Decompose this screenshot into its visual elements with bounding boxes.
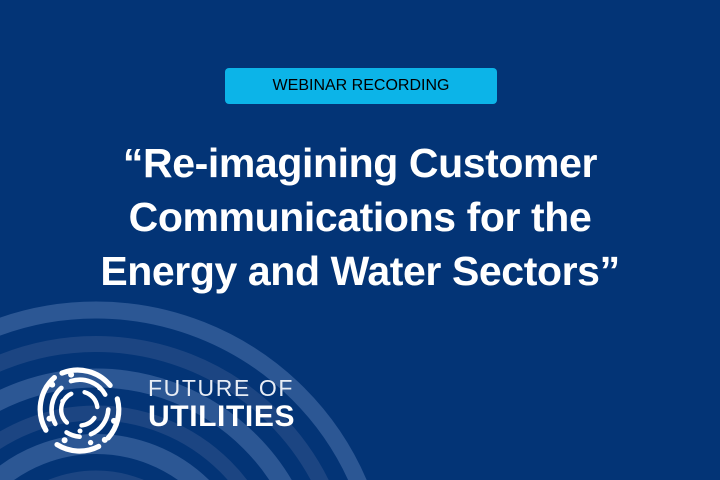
- future-of-utilities-logo: FUTURE OF UTILITIES: [24, 352, 324, 464]
- badge-label: WEBINAR RECORDING: [273, 77, 450, 95]
- logo-wordmark-bottom: UTILITIES: [148, 401, 318, 432]
- headline-line-2: Communications for the: [0, 190, 720, 244]
- page-title: “Re-imagining Customer Communications fo…: [0, 136, 720, 298]
- concentric-dashed-rings-icon: [24, 352, 136, 464]
- webinar-promo-card: WEBINAR RECORDING “Re-imagining Customer…: [0, 0, 720, 480]
- headline-line-3: Energy and Water Sectors”: [0, 244, 720, 298]
- webinar-recording-badge: WEBINAR RECORDING: [225, 68, 497, 104]
- logo-wordmark-top: FUTURE OF: [148, 376, 318, 401]
- headline-line-1: “Re-imagining Customer: [0, 136, 720, 190]
- logo-wordmark: FUTURE OF UTILITIES: [148, 376, 318, 432]
